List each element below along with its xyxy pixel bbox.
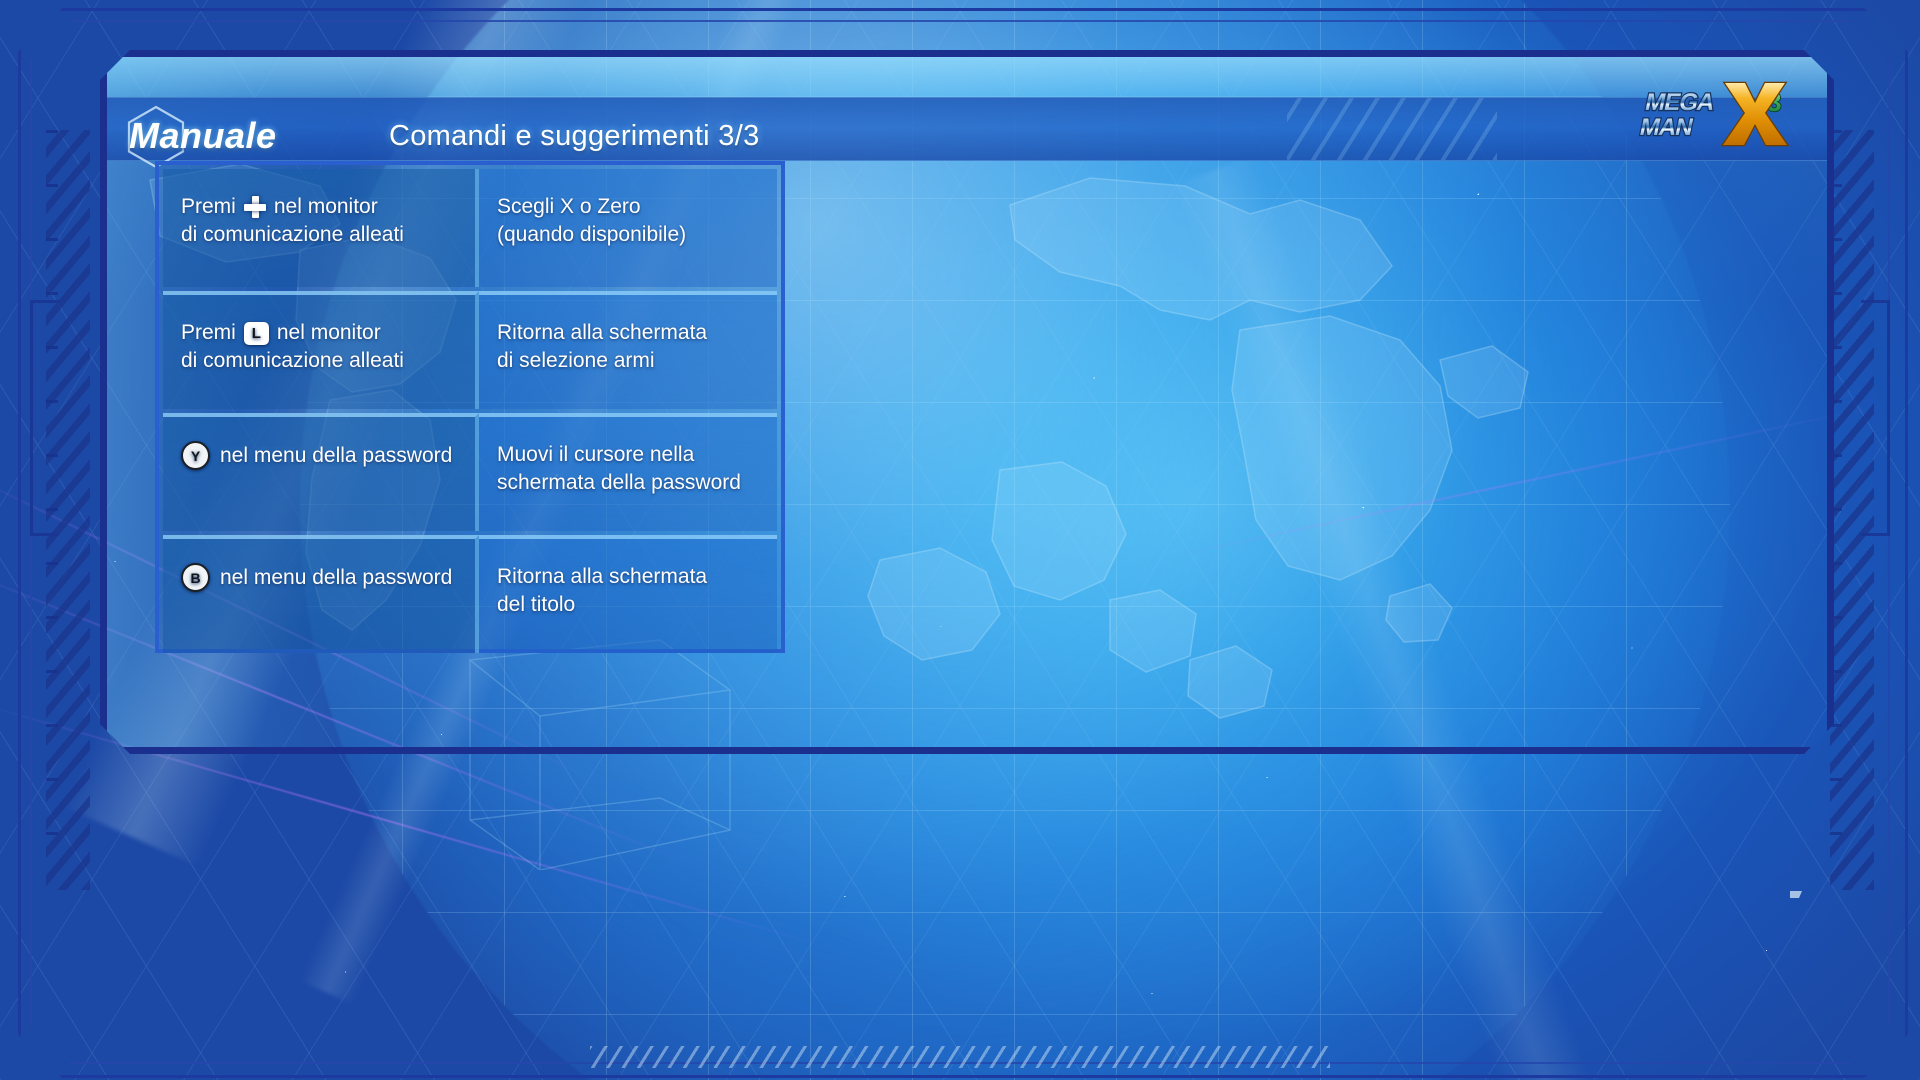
section-label: Manuale [129,113,349,159]
page-title: Comandi e suggerimenti 3/3 [389,113,760,159]
action-suffix: nel menu della password [220,564,452,592]
result-line-1: Muovi il cursore nella [497,441,777,469]
result-line-2: di selezione armi [497,347,777,375]
logo-text-man: MAN [1637,114,1694,141]
action-cell: Bnel menu della password [163,535,479,653]
action-suffix: nel monitor [277,319,381,347]
result-line-2: (quando disponibile) [497,221,777,249]
action-line-1: Preminel monitor [181,193,475,221]
result-line-2: del titolo [497,591,777,619]
action-cell: Preminel monitordi comunicazione alleati [163,169,479,287]
result-cell: Scegli X o Zero(quando disponibile) [479,169,777,287]
action-line-1: Ynel menu della password [181,441,475,470]
button-glyph-y: Y [181,441,210,470]
action-line-2: di comunicazione alleati [181,347,475,375]
result-line-1: Scegli X o Zero [497,193,777,221]
result-cell: Ritorna alla schermatadel titolo [479,535,777,653]
action-prefix: Premi [181,319,236,347]
action-suffix: nel menu della password [220,442,452,470]
action-prefix: Premi [181,193,236,221]
button-glyph-l: L [244,322,269,345]
corner-marker-icon [1790,891,1802,898]
hud-bracket-right [1861,300,1890,536]
hud-bracket-left [30,300,59,536]
action-cell: PremiLnel monitordi comunicazione alleat… [163,291,479,409]
result-cell: Muovi il cursore nellaschermata della pa… [479,413,777,531]
game-manual-screen: Manuale Comandi e suggerimenti 3/3 [0,0,1920,1080]
table-row: Ynel menu della passwordMuovi il cursore… [163,413,777,531]
hud-bottom-hatch [590,1046,1330,1068]
action-line-2: di comunicazione alleati [181,221,475,249]
logo-text-mega: MEGA [1643,89,1717,116]
game-logo-mega-man-x3: MEGA MAN 3 [1625,77,1801,149]
action-suffix: nel monitor [274,193,378,221]
result-line-1: Ritorna alla schermata [497,319,777,347]
result-line-1: Ritorna alla schermata [497,563,777,591]
button-glyph-b: B [181,563,210,592]
manual-panel: Manuale Comandi e suggerimenti 3/3 [100,50,1834,754]
table-row: Bnel menu della passwordRitorna alla sch… [163,535,777,653]
action-line-1: Bnel menu della password [181,563,475,592]
table-row: PremiLnel monitordi comunicazione alleat… [163,291,777,409]
result-cell: Ritorna alla schermatadi selezione armi [479,291,777,409]
button-glyph-plus [244,196,266,218]
result-line-2: schermata della password [497,469,777,497]
header-slash-decor [1287,98,1497,160]
action-line-1: PremiLnel monitor [181,319,475,347]
controls-table: Preminel monitordi comunicazione alleati… [155,161,785,653]
table-row: Preminel monitordi comunicazione alleati… [163,169,777,287]
panel-header-bar [107,97,1827,161]
action-cell: Ynel menu della password [163,413,479,531]
